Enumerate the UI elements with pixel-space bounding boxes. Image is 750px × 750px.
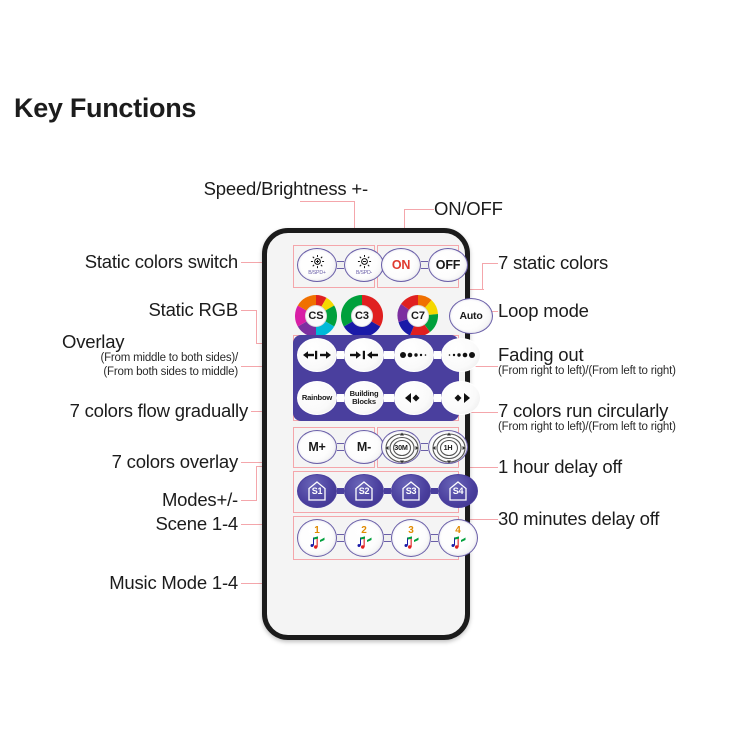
- key-fading-out-left-to-right[interactable]: [441, 338, 481, 372]
- key-music-mode-3-label: 3: [408, 526, 414, 536]
- connector-scene-2-3: [384, 488, 391, 494]
- key-scene-1[interactable]: S1: [297, 474, 337, 508]
- callout-loop-mode: Loop mode: [498, 300, 589, 321]
- sun-plus-icon: [310, 254, 325, 269]
- connector-effects-2b: [384, 394, 394, 402]
- leader-seven-static-colors-h: [482, 263, 498, 264]
- callout-static-rgb-text: Static RGB: [0, 299, 238, 320]
- key-scene-3-label: S3: [406, 485, 417, 498]
- music-note-icon-1: [309, 536, 326, 550]
- callout-overlay-title: Overlay: [62, 331, 238, 352]
- key-mode-plus[interactable]: M+: [297, 430, 337, 464]
- callout-overlay: Overlay (From middle to both sides)/ (Fr…: [0, 331, 238, 379]
- callout-fading-out: Fading out (From right to left)/(From le…: [498, 344, 676, 379]
- row-scenes: S1 S2 S3 S4: [297, 474, 478, 508]
- key-power-off-label: OFF: [436, 259, 460, 272]
- callout-thirty-min-delay-text: 30 minutes delay off: [498, 508, 659, 529]
- callout-scene-1-4: Scene 1-4: [0, 513, 238, 534]
- row-effects-2: Rainbow Building Blocks: [297, 381, 481, 415]
- fade-right-icon: [447, 350, 475, 360]
- key-brightness-up[interactable]: B/SPD+: [297, 248, 337, 282]
- callout-thirty-min-delay: 30 minutes delay off: [498, 508, 659, 529]
- connector-effects-2c: [434, 394, 441, 402]
- key-scene-2-label: S2: [359, 485, 370, 498]
- callout-music-mode-1-4: Music Mode 1-4: [0, 572, 238, 593]
- arrows-inward-icon: [350, 350, 378, 360]
- key-scene-4-label: S4: [453, 485, 464, 498]
- callout-scene-1-4-text: Scene 1-4: [0, 513, 238, 534]
- callout-seven-colors-flow-text: 7 colors flow gradually: [0, 400, 248, 421]
- callout-static-colors-switch-text: Static colors switch: [0, 251, 238, 272]
- callout-seven-colors-run-sub: (From right to left)/(From left to right…: [498, 421, 676, 435]
- leader-static-rgb-h1: [241, 310, 257, 311]
- leader-static-colors-switch-h1: [241, 262, 263, 263]
- row-effects-1: [297, 338, 481, 372]
- key-mode-minus-label: M-: [357, 441, 371, 454]
- connector-modes: [337, 443, 344, 451]
- key-fading-out-right-to-left[interactable]: [394, 338, 434, 372]
- callout-seven-static-colors: 7 static colors: [498, 252, 608, 273]
- callout-seven-colors-run-title: 7 colors run circularly: [498, 400, 676, 421]
- key-building-blocks-label: Building Blocks: [345, 390, 383, 407]
- connector-music-1-2: [337, 534, 344, 542]
- callout-overlay-sub2: (From both sides to middle): [0, 366, 238, 380]
- row-music: 1 2: [297, 519, 478, 557]
- key-power-on[interactable]: ON: [381, 248, 421, 282]
- connector-timers: [421, 443, 428, 451]
- connector-music-2-3: [384, 534, 391, 542]
- key-static-rgb[interactable]: C3: [341, 295, 383, 337]
- circulate-left-icon: [402, 392, 426, 404]
- key-music-mode-1[interactable]: 1: [297, 519, 337, 557]
- connector-effects-1b: [384, 351, 394, 359]
- key-brightness-down-sublabel: B/SPD-: [356, 270, 372, 276]
- callout-overlay-sub1: (From middle to both sides)/: [0, 352, 238, 366]
- key-timer-30-minutes-label: 30M: [394, 441, 407, 454]
- key-overlay-middle-to-sides[interactable]: [297, 338, 337, 372]
- key-run-circularly-right-to-left[interactable]: [394, 381, 434, 415]
- circulate-right-icon: [449, 392, 473, 404]
- callout-seven-static-colors-text: 7 static colors: [498, 252, 608, 273]
- key-scene-1-label: S1: [312, 485, 323, 498]
- key-power-off[interactable]: OFF: [428, 248, 468, 282]
- key-music-mode-1-label: 1: [314, 526, 320, 536]
- key-static-colors-switch-label: CS: [305, 305, 327, 327]
- leader-modes-h1: [241, 500, 257, 501]
- page-title: Key Functions: [14, 93, 196, 124]
- leader-seven-colors-overlay-h1: [241, 462, 263, 463]
- key-music-mode-3[interactable]: 3: [391, 519, 431, 557]
- callout-modes-plus-minus-text: Modes+/-: [0, 489, 238, 510]
- key-static-rgb-label: C3: [351, 305, 373, 327]
- row-brightness: B/SPD+ B/SPD-: [297, 248, 384, 282]
- key-brightness-up-sublabel: B/SPD+: [308, 270, 325, 276]
- row-color-modes: CS C3: [295, 295, 493, 337]
- leader-seven-static-colors-v: [482, 263, 483, 290]
- key-mode-minus[interactable]: M-: [344, 430, 384, 464]
- key-scene-4[interactable]: S4: [438, 474, 478, 508]
- connector-effects-1a: [337, 351, 344, 359]
- key-seven-static-colors-label: C7: [407, 305, 429, 327]
- key-mode-plus-label: M+: [308, 441, 325, 454]
- sun-minus-icon: [357, 254, 372, 269]
- callout-seven-colors-overlay: 7 colors overlay: [0, 451, 238, 472]
- connector-music-3-4: [431, 534, 438, 542]
- key-seven-static-colors[interactable]: C7: [397, 295, 439, 337]
- callout-loop-mode-text: Loop mode: [498, 300, 589, 321]
- key-auto-loop-mode-label: Auto: [459, 310, 482, 323]
- key-static-colors-switch[interactable]: CS: [295, 295, 337, 337]
- music-note-icon-3: [403, 536, 420, 550]
- key-music-mode-4-label: 4: [455, 526, 461, 536]
- callout-static-rgb: Static RGB: [0, 299, 238, 320]
- key-overlay-sides-to-middle[interactable]: [344, 338, 384, 372]
- key-rainbow-label: Rainbow: [302, 394, 332, 403]
- key-timer-1-hour-label: 1H: [444, 441, 453, 454]
- leader-static-rgb-v: [256, 310, 257, 344]
- key-scene-2[interactable]: S2: [344, 474, 384, 508]
- callout-modes-plus-minus: Modes+/-: [0, 489, 238, 510]
- key-music-mode-4[interactable]: 4: [438, 519, 478, 557]
- leader-on-off-h: [404, 209, 434, 210]
- callout-on-off: ON/OFF: [434, 198, 503, 219]
- connector-scene-3-4: [431, 488, 438, 494]
- music-note-icon-4: [450, 536, 467, 550]
- row-power: ON OFF: [381, 248, 468, 282]
- connector-scene-1-2: [337, 488, 344, 494]
- callout-seven-colors-run: 7 colors run circularly (From right to l…: [498, 400, 676, 435]
- connector-brightness: [337, 261, 344, 269]
- key-run-circularly-left-to-right[interactable]: [441, 381, 481, 415]
- connector-effects-2a: [337, 394, 344, 402]
- callout-static-colors-switch: Static colors switch: [0, 251, 238, 272]
- key-timer-30-minutes[interactable]: 30M: [381, 430, 421, 464]
- key-music-mode-2-label: 2: [361, 526, 367, 536]
- leader-modes-v: [256, 466, 257, 501]
- connector-power: [421, 261, 428, 269]
- row-modes: M+ M-: [297, 430, 384, 464]
- key-power-on-label: ON: [392, 259, 410, 272]
- row-timers: 30M 1H: [381, 430, 468, 464]
- callout-fading-out-title: Fading out: [498, 344, 676, 365]
- music-note-icon-2: [356, 536, 373, 550]
- leader-speed-brightness-h: [300, 201, 355, 202]
- callout-on-off-text: ON/OFF: [434, 198, 503, 219]
- key-rainbow[interactable]: Rainbow: [297, 381, 337, 415]
- callout-music-mode-1-4-text: Music Mode 1-4: [0, 572, 238, 593]
- remote-control-body: B/SPD+ B/SPD- ON: [262, 228, 470, 640]
- key-scene-3[interactable]: S3: [391, 474, 431, 508]
- connector-effects-1c: [434, 351, 441, 359]
- callout-speed-brightness-text: Speed/Brightness +-: [0, 178, 368, 199]
- callout-seven-colors-flow: 7 colors flow gradually: [0, 400, 248, 421]
- key-auto-loop-mode[interactable]: Auto: [449, 298, 493, 334]
- arrows-outward-icon: [303, 350, 331, 360]
- callout-seven-colors-overlay-text: 7 colors overlay: [0, 451, 238, 472]
- key-timer-1-hour[interactable]: 1H: [428, 430, 468, 464]
- key-music-mode-2[interactable]: 2: [344, 519, 384, 557]
- callout-one-hour-delay: 1 hour delay off: [498, 456, 622, 477]
- callout-one-hour-delay-text: 1 hour delay off: [498, 456, 622, 477]
- fade-left-icon: [400, 350, 428, 360]
- callout-fading-out-sub: (From right to left)/(From left to right…: [498, 365, 676, 379]
- callout-speed-brightness: Speed/Brightness +-: [0, 178, 368, 199]
- key-building-blocks[interactable]: Building Blocks: [344, 381, 384, 415]
- key-brightness-down[interactable]: B/SPD-: [344, 248, 384, 282]
